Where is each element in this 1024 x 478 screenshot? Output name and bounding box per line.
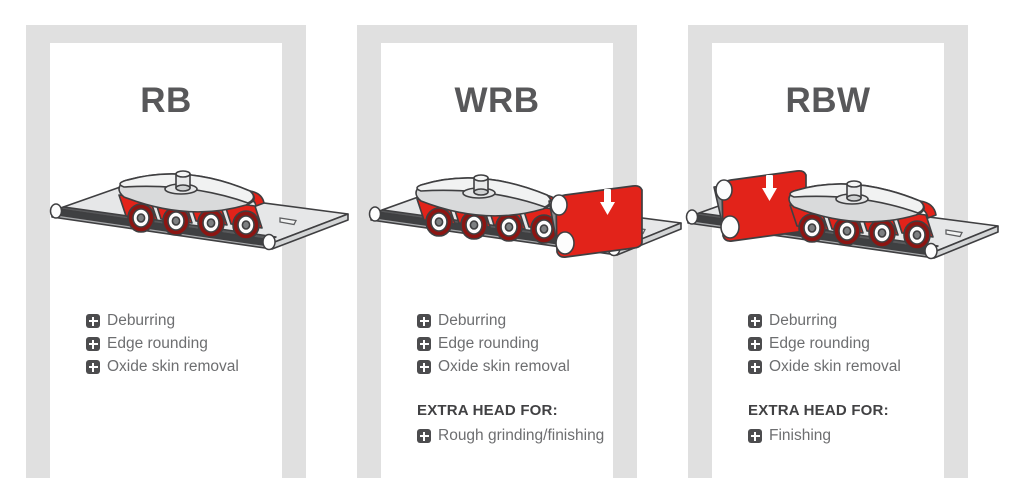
machine-illustration-rb [18,139,358,269]
feature-label: Edge rounding [438,334,539,353]
panel-frame-top [357,25,637,43]
panel-inner-rbw: RBW [712,43,944,478]
plus-icon [748,429,762,443]
plus-icon [748,360,762,374]
panel-rb: RB [26,25,306,478]
list-item: Deburring [417,311,667,330]
page-title: RB [50,81,282,121]
panel-frame-top [688,25,968,43]
list-item: Edge rounding [417,334,667,353]
panel-inner-wrb: WRB [381,43,613,478]
feature-label: Deburring [107,311,175,330]
extra-feature-label: Rough grinding/finishing [438,426,604,445]
feature-label: Oxide skin removal [438,357,570,376]
list-item: Oxide skin removal [417,357,667,376]
extra-head-block-wrb: EXTRA HEAD FOR: Rough grinding/finishing [417,402,667,445]
panel-rbw: RBW [688,25,968,478]
plus-icon [86,337,100,351]
extra-head-heading: EXTRA HEAD FOR: [417,402,667,419]
list-item: Oxide skin removal [748,357,998,376]
list-item: Finishing [748,426,998,445]
plus-icon [86,360,100,374]
list-item: Deburring [86,311,336,330]
plus-icon [417,337,431,351]
extra-head-block-rbw: EXTRA HEAD FOR: Finishing [748,402,998,445]
feature-label: Deburring [769,311,837,330]
machine-comparison-figure: RB [0,0,1024,478]
plus-icon [86,314,100,328]
machine-illustration-rbw [680,139,1020,269]
feature-lists-wrb: Deburring Edge rounding Oxide skin remov… [417,311,667,449]
extra-head-belt-wrb [549,186,642,257]
page-title: RBW [712,81,944,121]
feature-lists-rbw: Deburring Edge rounding Oxide skin remov… [748,311,998,449]
plus-icon [417,314,431,328]
panel-inner-rb: RB [50,43,282,478]
list-item: Edge rounding [86,334,336,353]
plus-icon [417,360,431,374]
machine-illustration-wrb [349,139,689,269]
list-item: Deburring [748,311,998,330]
list-item: Rough grinding/finishing [417,426,667,445]
plus-icon [748,337,762,351]
feature-label: Deburring [438,311,506,330]
feature-lists-rb: Deburring Edge rounding Oxide skin remov… [86,311,336,402]
feature-label: Oxide skin removal [107,357,239,376]
extra-head-heading: EXTRA HEAD FOR: [748,402,998,419]
feature-label: Edge rounding [107,334,208,353]
panel-wrb: WRB [357,25,637,478]
list-item: Edge rounding [748,334,998,353]
plus-icon [748,314,762,328]
extra-feature-label: Finishing [769,426,831,445]
page-title: WRB [381,81,613,121]
panel-frame-top [26,25,306,43]
list-item: Oxide skin removal [86,357,336,376]
plus-icon [417,429,431,443]
feature-label: Oxide skin removal [769,357,901,376]
feature-label: Edge rounding [769,334,870,353]
